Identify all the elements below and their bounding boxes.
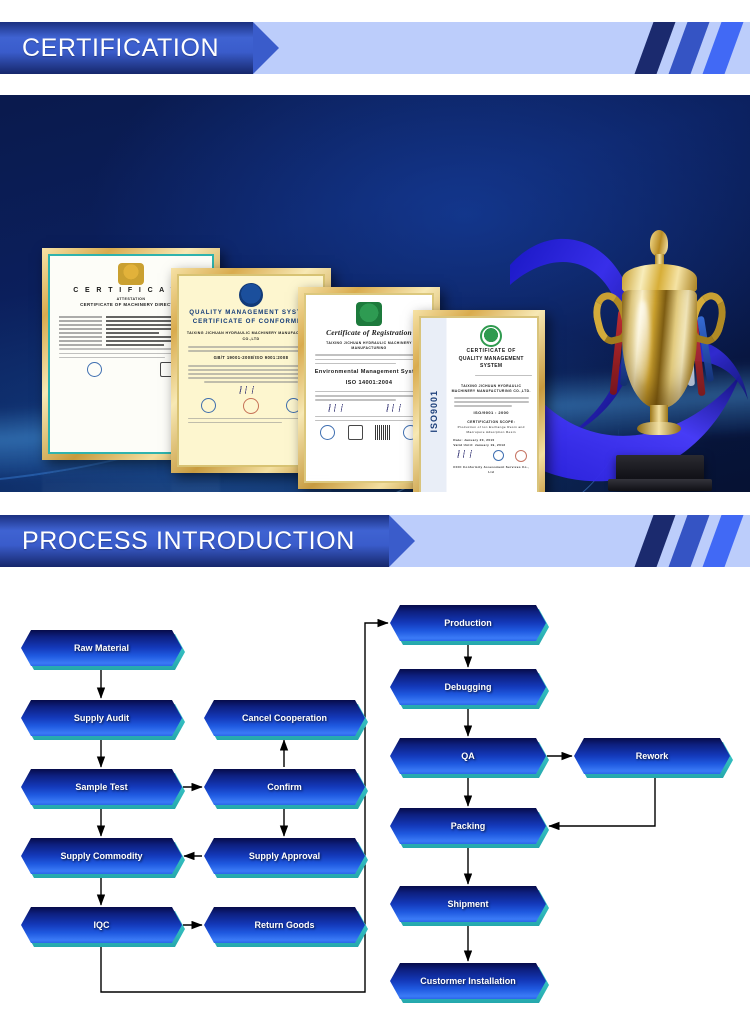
flow-node-label: Raw Material	[21, 630, 182, 666]
flow-node-customer-installation[interactable]: Custormer Installation	[390, 963, 546, 999]
section-header-certification: CERTIFICATION	[0, 22, 750, 74]
banner-stripes-decoration	[620, 515, 750, 567]
flow-node-production[interactable]: Production	[390, 605, 546, 641]
avcb-mark-icon	[348, 425, 363, 440]
flow-node-label: Custormer Installation	[390, 963, 546, 999]
trophy-highlight-icon	[636, 300, 650, 385]
flow-node-label: Supply Approval	[204, 838, 365, 874]
trophy-base-icon	[616, 455, 704, 489]
certificate-standard: ISO 14001:2004	[311, 379, 427, 387]
jas-anz-mark-icon	[320, 425, 335, 440]
certificate-iso9001: ISO9001 CERTIFICATE OF QUALITY MANAGEMEN…	[413, 310, 545, 492]
iso9001-sidebar-text: ISO9001	[421, 318, 447, 492]
official-seal-icon	[243, 398, 259, 414]
certification-image-banner: C E R T I F I C A T E ATTESTATION CERTIF…	[0, 95, 750, 492]
flow-node-label: Sample Test	[21, 769, 182, 805]
flow-node-label: Return Goods	[204, 907, 365, 943]
page-root: CERTIFICATION	[0, 0, 750, 1022]
flow-node-raw-material[interactable]: Raw Material	[21, 630, 182, 666]
trophy-finial-icon	[650, 230, 668, 256]
flow-node-label: Supply Audit	[21, 700, 182, 736]
signature-icon	[238, 386, 264, 394]
ccic-logo-icon	[480, 325, 502, 347]
page-title: CERTIFICATION	[22, 34, 219, 63]
flow-node-supply-approval[interactable]: Supply Approval	[204, 838, 365, 874]
certificate-issuer: CCIC Conformity Assessment Services Co.,…	[450, 465, 532, 474]
flow-node-confirm[interactable]: Confirm	[204, 769, 365, 805]
tqcsi-logo-icon	[356, 302, 382, 326]
official-seal-icon	[515, 450, 527, 462]
flow-node-label: IQC	[21, 907, 182, 943]
flow-node-label: Supply Commodity	[21, 838, 182, 874]
trophy-foot-icon	[637, 422, 681, 435]
flow-node-label: Production	[390, 605, 546, 641]
certificate-system: Environmental Management System	[311, 368, 427, 376]
process-flowchart: Raw MaterialSupply AuditSample TestSuppl…	[0, 580, 750, 1022]
cnas-mark-icon	[201, 398, 216, 413]
flow-node-label: Debugging	[390, 669, 546, 705]
stripe-light-icon	[700, 515, 745, 567]
flow-node-return-goods[interactable]: Return Goods	[204, 907, 365, 943]
certification-title-tab: CERTIFICATION	[0, 22, 253, 74]
flow-node-rework[interactable]: Rework	[574, 738, 730, 774]
certificate-title: CERTIFICATE OF	[450, 348, 532, 356]
cnas-mark-icon	[493, 450, 504, 461]
flow-node-supply-audit[interactable]: Supply Audit	[21, 700, 182, 736]
flow-node-qa[interactable]: QA	[390, 738, 546, 774]
qms-logo-icon	[239, 283, 263, 307]
stripe-light-icon	[700, 22, 745, 74]
flow-node-iqc[interactable]: IQC	[21, 907, 182, 943]
certificate-title: Certificate of Registration	[311, 327, 427, 338]
qr-code-icon	[375, 425, 390, 440]
iso9001-sidebar-label: ISO9001	[429, 390, 439, 433]
flow-node-label: Confirm	[204, 769, 365, 805]
section-header-process: PROCESS INTRODUCTION	[0, 515, 750, 567]
flow-node-label: QA	[390, 738, 546, 774]
flow-node-sample-test[interactable]: Sample Test	[21, 769, 182, 805]
udem-logo-icon	[118, 263, 144, 285]
signature-icon	[385, 404, 411, 412]
banner-stripes-decoration	[620, 22, 750, 74]
ce-mark-icon	[87, 362, 102, 377]
certificate-title-2: QUALITY MANAGEMENT SYSTEM	[450, 356, 532, 371]
flow-node-label: Shipment	[390, 886, 546, 922]
flow-node-supply-commodity[interactable]: Supply Commodity	[21, 838, 182, 874]
flow-node-label: Cancel Cooperation	[204, 700, 365, 736]
certificate-reflection	[298, 489, 440, 492]
award-trophy	[592, 230, 727, 492]
trophy-cup-icon	[622, 290, 697, 408]
flow-node-packing[interactable]: Packing	[390, 808, 546, 844]
certificate-scope: Production of Ion Exchange Resin and Mac…	[450, 425, 532, 434]
flow-node-debugging[interactable]: Debugging	[390, 669, 546, 705]
flow-node-cancel-cooperation[interactable]: Cancel Cooperation	[204, 700, 365, 736]
process-title-tab: PROCESS INTRODUCTION	[0, 515, 389, 567]
flow-node-shipment[interactable]: Shipment	[390, 886, 546, 922]
certificate-company: TAIXING JICHUAN HYDRAULIC MACHINERY MANU…	[450, 384, 532, 394]
section-title: PROCESS INTRODUCTION	[22, 527, 355, 556]
certificate-company: TAIXING JICHUAN HYDRAULIC MACHINERY MANU…	[311, 341, 427, 351]
signature-icon	[456, 450, 482, 458]
flow-node-label: Rework	[574, 738, 730, 774]
certificate-valid-date: Valid Until: January 19, 2013	[450, 443, 532, 448]
certificate-standard: ISO/9001 : 2000	[450, 410, 532, 416]
signature-icon	[327, 404, 353, 412]
flow-node-label: Packing	[390, 808, 546, 844]
